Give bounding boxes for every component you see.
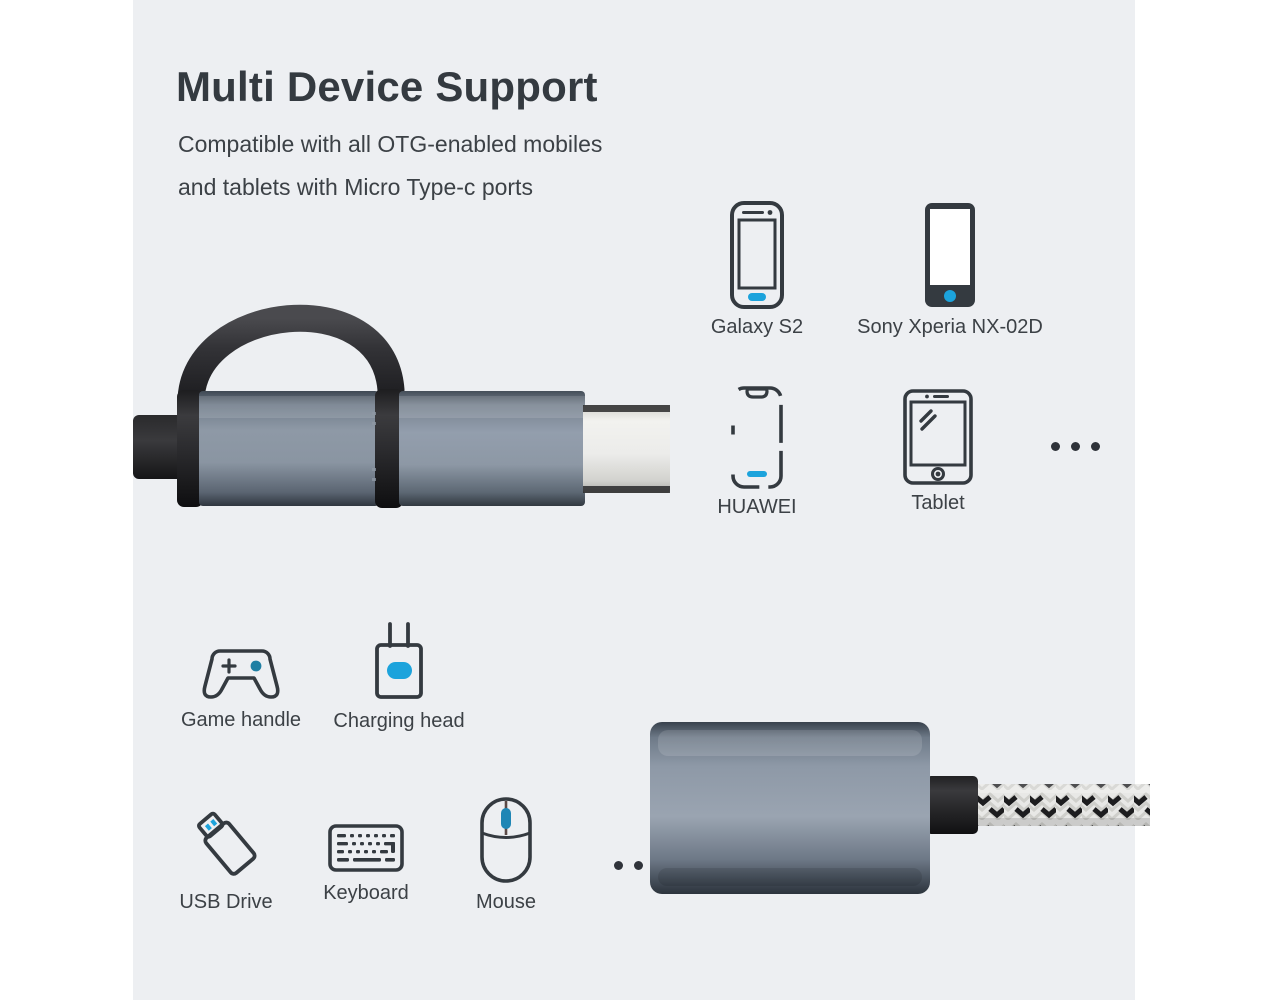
device-label: Tablet: [888, 492, 988, 515]
strain-relief: [926, 776, 978, 834]
device-sony-xperia: Sony Xperia NX-02D: [848, 200, 1052, 339]
product-image-otg-adapter: [133, 272, 673, 512]
dot: [1071, 442, 1080, 451]
phone-galaxy-icon: [728, 200, 786, 310]
accessory-label: Keyboard: [316, 882, 416, 905]
subtitle-line-1: Compatible with all OTG-enabled mobiles: [178, 131, 602, 158]
device-label: HUAWEI: [707, 496, 807, 519]
usb-flash-drive-icon: [188, 805, 264, 885]
charger-plug-icon: [365, 620, 433, 704]
accessory-label: Charging head: [330, 710, 468, 733]
dot: [1091, 442, 1100, 451]
usb-c-tip: [583, 405, 670, 493]
gamepad-icon: [198, 645, 284, 703]
rubber-loop-strap: [191, 318, 391, 402]
phone-xperia-icon: [922, 200, 978, 310]
accessory-label: Game handle: [176, 709, 306, 732]
subtitle-line-2: and tablets with Micro Type-c ports: [178, 174, 533, 201]
dot: [614, 861, 623, 870]
device-galaxy-s2: Galaxy S2: [706, 200, 808, 339]
accessory-usb-drive: USB Drive: [176, 805, 276, 914]
accessory-label: Mouse: [456, 891, 556, 914]
mouse-icon: [477, 795, 535, 885]
device-label: Galaxy S2: [706, 316, 808, 339]
accessory-mouse: Mouse: [456, 795, 556, 914]
device-huawei: HUAWEI: [707, 385, 807, 519]
phone-huawei-notch-icon: [728, 385, 786, 490]
product-infographic: Multi Device Support Compatible with all…: [0, 0, 1271, 1000]
product-image-usb-housing: [640, 700, 1150, 915]
dot: [1051, 442, 1060, 451]
accessory-game-handle: Game handle: [176, 645, 306, 732]
devices-more-indicator: [1051, 442, 1100, 451]
tablet-icon: [902, 388, 974, 486]
accessory-charging-head: Charging head: [330, 620, 468, 733]
page-title: Multi Device Support: [176, 63, 598, 111]
device-label: Sony Xperia NX-02D: [848, 316, 1052, 339]
accessory-label: USB Drive: [176, 891, 276, 914]
accessory-keyboard: Keyboard: [316, 820, 416, 905]
device-tablet: Tablet: [888, 388, 988, 515]
keyboard-icon: [327, 820, 405, 876]
mid-collar: [375, 389, 403, 508]
